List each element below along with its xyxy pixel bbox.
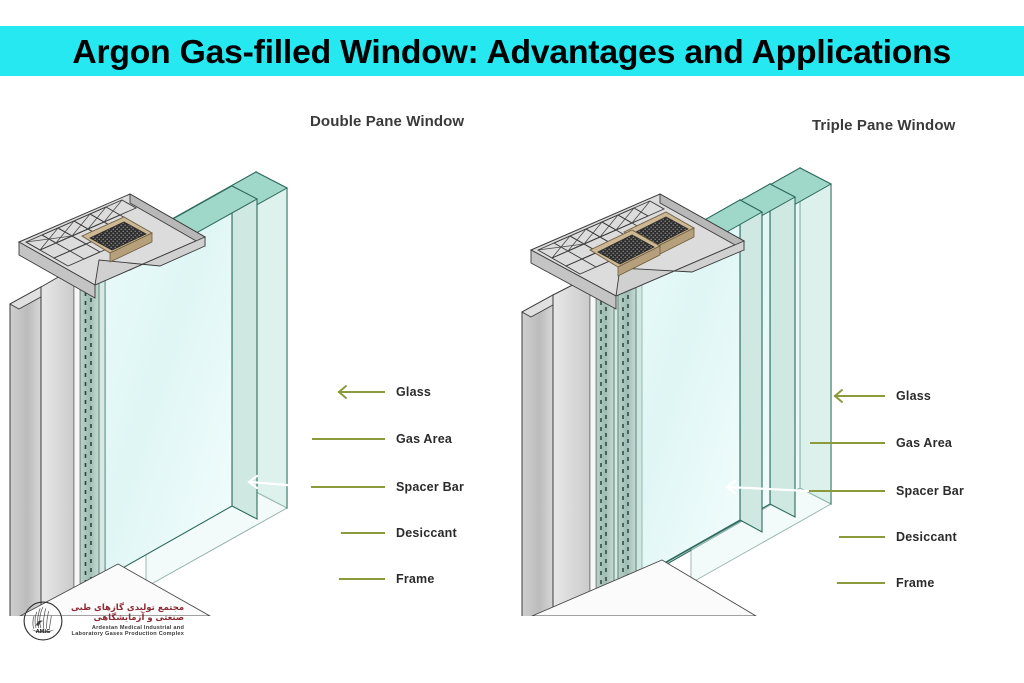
callout-right-gas-area: Gas Area: [896, 436, 952, 450]
infographic-canvas: Argon Gas-filled Window: Advantages and …: [0, 0, 1024, 683]
callout-overlay: [0, 0, 1024, 683]
callout-left-spacer-bar: Spacer Bar: [396, 480, 464, 494]
leader-lines-right: [808, 396, 885, 583]
callout-left-gas-area: Gas Area: [396, 432, 452, 446]
callout-left-glass: Glass: [396, 385, 431, 399]
callout-left-desiccant: Desiccant: [396, 526, 457, 540]
company-logo: AMIG مجتمع تولیدی گازهای طبی صنعتی و آزم…: [22, 600, 184, 642]
logo-text-block: مجتمع تولیدی گازهای طبی صنعتی و آزمایشگا…: [71, 604, 184, 639]
callout-right-glass: Glass: [896, 389, 931, 403]
arrows-white-right: [727, 481, 838, 586]
callout-right-frame: Frame: [896, 576, 935, 590]
callout-left-frame: Frame: [396, 572, 435, 586]
svg-text:AMIG: AMIG: [36, 629, 51, 635]
arrows-white-left: [249, 476, 340, 582]
callout-right-desiccant: Desiccant: [896, 530, 957, 544]
logo-english-line-2: Laboratory Gases Production Complex: [72, 632, 185, 638]
leader-lines-left: [310, 392, 385, 579]
callout-right-spacer-bar: Spacer Bar: [896, 484, 964, 498]
logo-persian-line-2: صنعتی و آزمایشگاهی: [94, 614, 184, 623]
logo-emblem-icon: AMIG: [22, 600, 64, 642]
logo-persian-line-1: مجتمع تولیدی گازهای طبی: [71, 604, 184, 613]
